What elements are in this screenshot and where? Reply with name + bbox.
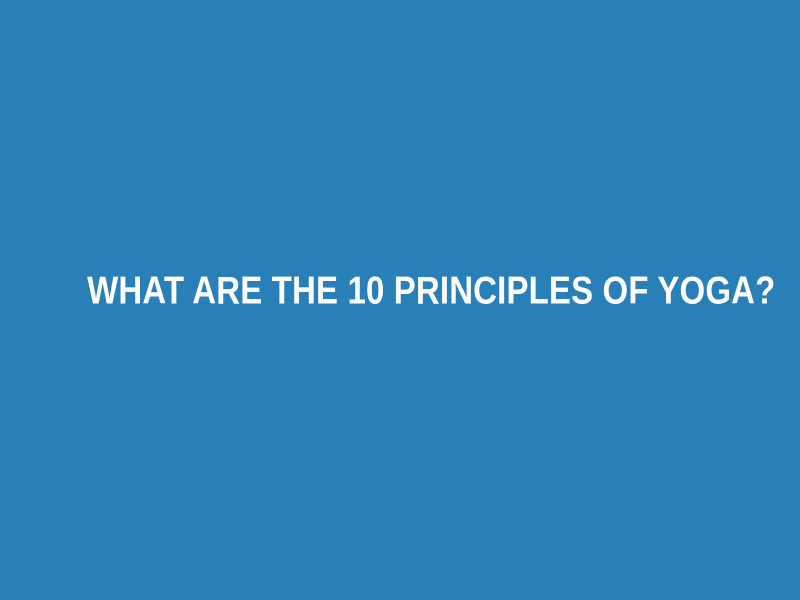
- page-title: WHAT ARE THE 10 PRINCIPLES OF YOGA?: [87, 272, 775, 313]
- featured-image-card: WHAT ARE THE 10 PRINCIPLES OF YOGA?: [0, 0, 800, 600]
- headline-block: WHAT ARE THE 10 PRINCIPLES OF YOGA?: [0, 272, 800, 313]
